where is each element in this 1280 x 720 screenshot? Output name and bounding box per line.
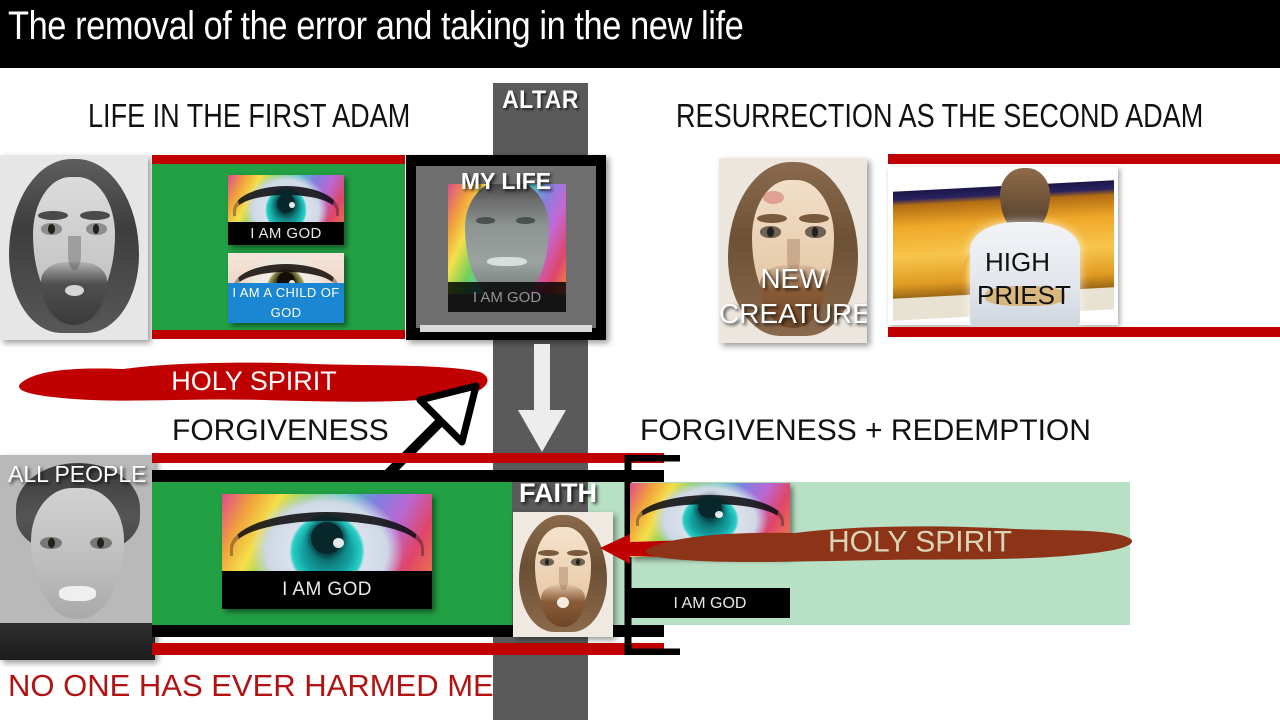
new-creature-label-line2: CREATURE (719, 298, 867, 330)
bottom-green-panel-red-bar-bottom (152, 643, 664, 655)
bottom-eye-card-caption: I AM GOD (222, 571, 432, 609)
heading-life-in-first-adam: LIFE IN THE FIRST ADAM (88, 97, 410, 135)
white-down-arrow-icon (516, 344, 568, 456)
new-creature-label-line1: NEW (719, 263, 867, 295)
all-people-label: ALL PEOPLE (8, 461, 147, 488)
altar-label: ALTAR (497, 86, 584, 115)
new-creature-portrait: NEW CREATURE (719, 158, 867, 343)
forgiveness-redemption-label: FORGIVENESS + REDEMPTION (640, 414, 1091, 448)
title-bar: The removal of the error and taking in t… (0, 0, 1280, 68)
blended-face-image (448, 184, 566, 294)
high-priest-label-line1: HIGH (985, 247, 1050, 278)
eye-glint (715, 511, 723, 518)
smile-shape (59, 586, 96, 600)
slide-title: The removal of the error and taking in t… (8, 4, 743, 49)
faith-label: FAITH (503, 478, 613, 509)
slide-canvas: The removal of the error and taking in t… (0, 0, 1280, 720)
top-green-panel-red-bar-bottom (152, 330, 405, 339)
top-green-panel-red-bar-top (152, 155, 405, 164)
heading-resurrection-second-adam: RESURRECTION AS THE SECOND ADAM (676, 97, 1203, 135)
eye-card-i-am-god: I AM GOD (228, 175, 344, 245)
holy-spirit-brush-right-text: HOLY SPIRIT (645, 525, 1135, 559)
high-priest-red-bar-bottom (888, 327, 1280, 337)
my-life-label: MY LIFE (406, 168, 606, 195)
mint-eye-caption-text: I AM GOD (630, 589, 790, 619)
high-priest-red-bar-top (888, 154, 1280, 164)
suit-shape (0, 623, 155, 660)
footer-note: NO ONE HAS EVER HARMED ME (8, 668, 494, 704)
eye-card-caption: I AM A CHILD OF GOD (228, 283, 344, 323)
bottom-green-panel-red-bar-top (152, 453, 664, 463)
my-life-caption-text: I AM GOD (448, 283, 566, 313)
eye-card-caption: I AM GOD (228, 222, 344, 245)
eye-glint (333, 538, 344, 548)
holy-spirit-brush-right: HOLY SPIRIT (645, 519, 1135, 567)
faith-jesus-portrait (513, 512, 613, 637)
all-people-photo: ALL PEOPLE (0, 455, 155, 660)
eye-card-i-am-a-child-of-god: I AM A CHILD OF GOD (228, 253, 344, 323)
my-life-base-bar (420, 325, 592, 332)
grayscale-jesus-portrait (0, 155, 148, 340)
high-priest-label-line2: PRIEST (977, 280, 1071, 311)
bottom-eye-card-i-am-god: I AM GOD (222, 494, 432, 609)
